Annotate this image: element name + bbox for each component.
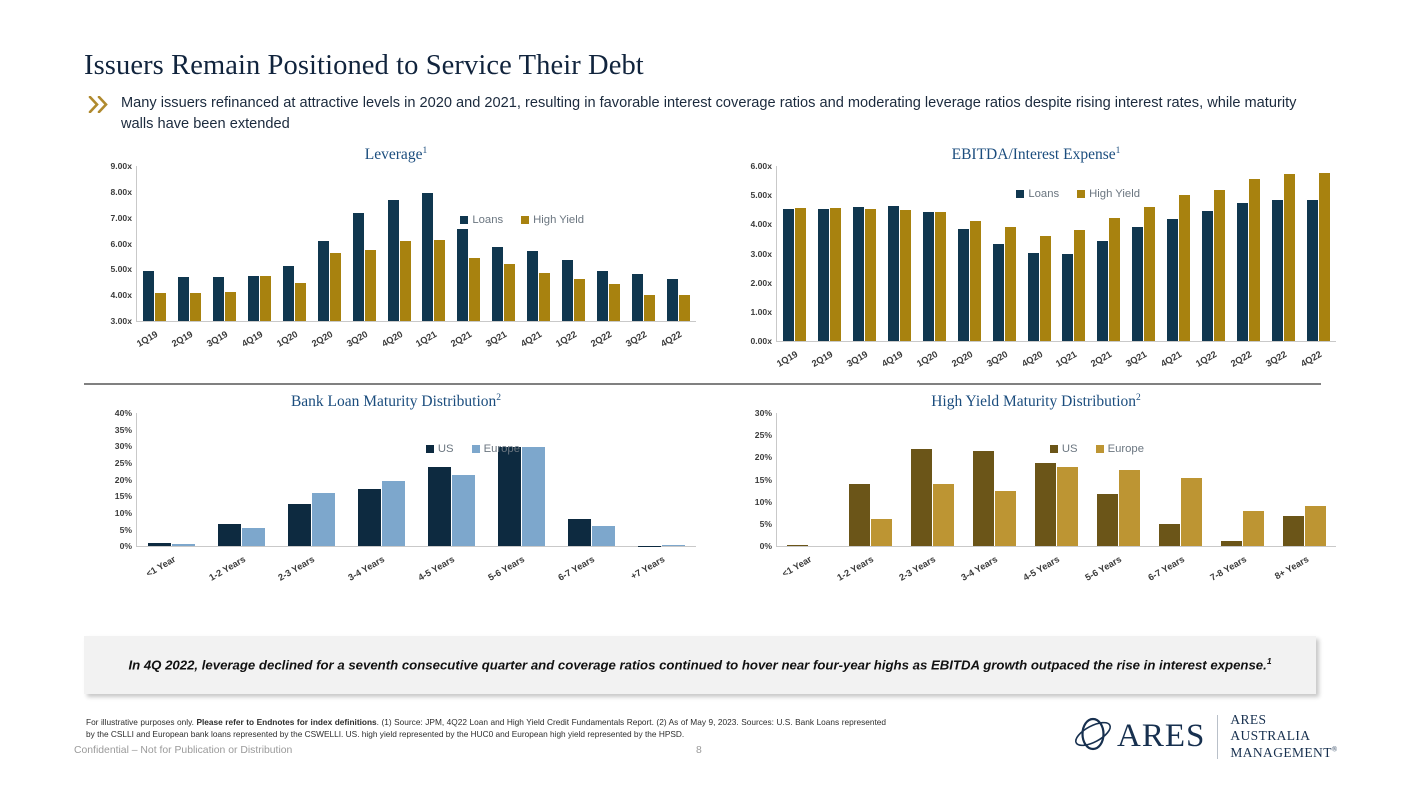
x-axis-tick-label: 3-4 Years [960,554,1000,583]
legend-ebitda-interest-expense: LoansHigh Yield [1016,188,1140,200]
chart-title-superscript: 1 [422,146,427,156]
y-axis-tick-label: 15% [115,491,132,501]
y-axis-tick-label: 3.00x [110,316,132,326]
bar-group [1097,413,1140,546]
y-axis-tick-label: 8.00x [110,187,132,197]
y-axis-tick-label: 40% [115,408,132,418]
bar-group [213,166,236,321]
bar-loans [783,209,794,341]
bar-europe [312,493,335,546]
bar-group [1237,166,1260,341]
x-axis-tick-label: 3Q22 [1264,349,1288,369]
x-axis-tick-label: 5-6 Years [1084,554,1124,583]
x-axis-tick-label: 4Q19 [240,329,264,349]
y-axis: 30%25%20%15%10%5%0% [736,413,776,546]
bar-group [632,166,655,321]
y-axis-tick-label: 25% [755,430,772,440]
x-axis-tick-label: 4Q22 [659,329,683,349]
legend-swatch-icon [1050,445,1058,453]
bar-high-yield [644,295,655,321]
chart-high-yield-maturity: High Yield Maturity Distribution230%25%2… [736,393,1336,598]
x-axis-line [776,341,1336,342]
bar-loans [1097,241,1108,341]
bar-loans [888,206,899,342]
bar-group [318,166,341,321]
chart-ebitda-interest-expense: EBITDA/Interest Expense16.00x5.00x4.00x3… [736,146,1336,393]
x-axis-tick-label: 2-3 Years [897,554,937,583]
bar-high-yield [795,208,806,341]
bar-high-yield [830,208,841,341]
legend-item[interactable]: Loans [1016,188,1059,200]
bar-europe [1057,467,1078,546]
bar-group [562,166,585,321]
bar-us [148,543,171,546]
bar-group [993,166,1016,341]
bar-loans [597,271,608,321]
x-axis-tick-label: 1Q21 [414,329,438,349]
legend-item[interactable]: High Yield [1077,188,1140,200]
legend-swatch-icon [1016,190,1024,198]
ares-wordmark: ARES [1117,718,1205,755]
y-axis-tick-label: 6.00x [750,161,772,171]
bar-group [498,413,545,546]
bar-loans [1132,227,1143,342]
bar-us [1283,516,1304,546]
plot-area-bank-loan-maturity-distribution: 40%35%30%25%20%15%10%5%0%<1 Year1-2 Year… [96,413,696,598]
bar-europe [382,481,405,546]
bar-us [911,449,932,547]
bar-group [248,166,271,321]
x-axis-tick-label: 6-7 Years [1146,554,1186,583]
bar-high-yield [865,209,876,341]
chart-title-superscript: 2 [1136,393,1141,403]
bar-high-yield [970,221,981,341]
bar-high-yield [539,273,550,321]
y-axis-tick-label: 35% [115,425,132,435]
bar-high-yield [1179,195,1190,341]
x-axis-tick-label: 1Q20 [275,329,299,349]
slide: Issuers Remain Positioned to Service The… [0,0,1405,788]
bar-group [1167,166,1190,341]
bar-group [1159,413,1202,546]
x-axis-tick-label: 1Q19 [775,349,799,369]
x-axis-tick-label: 3Q20 [345,329,369,349]
bar-europe [522,447,545,546]
y-axis: 9.00x8.00x7.00x6.00x5.00x4.00x3.00x [96,166,136,321]
bar-europe [662,545,685,546]
y-axis-tick-label: 10% [115,508,132,518]
x-axis-tick-label: 4Q22 [1299,349,1323,369]
bar-group [1202,166,1225,341]
bar-loans [667,279,678,321]
bar-us [638,546,661,547]
x-axis-tick-label: 1-2 Years [207,554,247,583]
legend-bank-loan-maturity-distribution: USEurope [426,443,520,455]
y-axis-tick-label: 20% [115,475,132,485]
x-axis-tick-label: 4Q20 [380,329,404,349]
x-axis-tick-label: 3-4 Years [347,554,387,583]
x-axis-tick-label: 4Q21 [1159,349,1183,369]
y-axis: 40%35%30%25%20%15%10%5%0% [96,413,136,546]
y-axis-tick-label: 5.00x [750,190,772,200]
footnote: For illustrative purposes only. Please r… [86,716,886,740]
y-axis: 6.00x5.00x4.00x3.00x2.00x1.00x0.00x [736,166,776,341]
legend-item[interactable]: High Yield [521,214,584,226]
bar-group-container [137,413,696,546]
bar-us [1159,524,1180,547]
bar-high-yield [609,284,620,321]
chart-title-bank-loan-maturity-distribution: Bank Loan Maturity Distribution2 [96,393,696,411]
bar-europe [1305,506,1326,546]
bar-group [358,413,405,546]
y-axis-tick-label: 5% [760,519,772,529]
logo-divider [1217,715,1218,759]
bar-high-yield [295,283,306,321]
legend-item[interactable]: Loans [460,214,503,226]
x-axis-tick-label: 2Q22 [1229,349,1253,369]
chart-title-text: Bank Loan Maturity Distribution [291,393,496,410]
legend-swatch-icon [521,216,529,224]
bar-loans [1307,200,1318,341]
legend-swatch-icon [460,216,468,224]
x-axis-tick-label: 4Q20 [1020,349,1044,369]
bar-group [787,413,830,546]
bar-group [178,166,201,321]
legend-label: High Yield [533,214,584,226]
bar-europe [871,519,892,546]
confidentiality-notice: Confidential – Not for Publication or Di… [74,745,292,756]
bar-high-yield [1144,207,1155,341]
bar-group [457,166,480,321]
bar-europe [995,491,1016,546]
x-axis-tick-label: 5-6 Years [486,554,526,583]
bar-group [888,166,911,341]
bar-loans [1028,253,1039,341]
bar-loans [562,260,573,321]
y-axis-tick-label: 4.00x [110,290,132,300]
bar-europe [172,544,195,546]
bar-loans [923,212,934,341]
chart-title-ebitda-interest-expense: EBITDA/Interest Expense1 [736,146,1336,164]
x-axis-tick-label: 4-5 Years [417,554,457,583]
legend-label: Europe [1108,443,1144,455]
bar-us [787,545,808,546]
legend-label: Loans [1028,188,1059,200]
bar-group [853,166,876,341]
bar-europe [1181,478,1202,546]
bar-high-yield [935,212,946,341]
x-axis-tick-label: 3Q22 [624,329,648,349]
x-axis-tick-label: 2Q20 [950,349,974,369]
bar-group [353,166,376,321]
bar-group [422,166,445,321]
bar-loans [353,213,364,321]
bar-loans [1272,200,1283,341]
legend-item[interactable]: US [1050,443,1078,455]
x-axis-tick-label: 4Q21 [519,329,543,349]
bar-europe [242,528,265,546]
y-axis-tick-label: 1.00x [750,307,772,317]
logo-sub-line-2: AUSTRALIA [1230,728,1337,744]
bar-high-yield [260,276,271,321]
bar-loans [853,207,864,341]
bar-group [492,166,515,321]
bar-group [388,166,411,321]
bar-group [148,413,195,546]
plot-area-leverage: 9.00x8.00x7.00x6.00x5.00x4.00x3.00x1Q192… [96,166,696,373]
bar-high-yield [190,293,201,321]
y-axis-tick-label: 0% [760,541,772,551]
ares-australia-management-logo: ARES ARES AUSTRALIA MANAGEMENT® [1072,712,1338,761]
y-axis-tick-label: 5% [120,525,132,535]
legend-label: US [438,443,454,455]
chart-title-text: High Yield Maturity Distribution [931,393,1136,410]
bar-high-yield [225,292,236,321]
bar-loans [248,276,259,321]
bar-group [1221,413,1264,546]
bar-high-yield [469,258,480,321]
footnote-pre: For illustrative purposes only. [86,717,196,727]
bar-loans [492,247,503,321]
bar-loans [318,241,329,321]
bar-group [958,166,981,341]
y-axis-tick-label: 9.00x [110,161,132,171]
legend-item[interactable]: US [426,443,454,455]
chart-title-superscript: 2 [496,393,501,403]
bar-high-yield [900,210,911,341]
x-axis-tick-label: 3Q21 [1124,349,1148,369]
bar-loans [1237,203,1248,342]
logo-sub-line-3: MANAGEMENT® [1230,745,1337,761]
bar-us [973,451,994,546]
x-axis-tick-label: 2Q22 [589,329,613,349]
callout-box: In 4Q 2022, leverage declined for a seve… [84,636,1316,694]
x-axis-tick-label: 1Q22 [554,329,578,349]
ares-mark-icon [1072,714,1114,759]
x-axis-tick-label: 3Q20 [985,349,1009,369]
legend-leverage: LoansHigh Yield [460,214,584,226]
bar-group [638,413,685,546]
bar-group [667,166,690,321]
bar-loans [993,244,1004,341]
page-title: Issuers Remain Positioned to Service The… [84,50,644,82]
y-axis-tick-label: 6.00x [110,239,132,249]
page-number: 8 [696,745,702,756]
x-axis-tick-label: 1Q19 [135,329,159,349]
bar-high-yield [330,253,341,321]
chart-bank-loan-maturity: Bank Loan Maturity Distribution240%35%30… [96,393,696,598]
chart-title-superscript: 1 [1116,146,1121,156]
chart-title-leverage: Leverage1 [96,146,696,164]
ares-australia-management-wordmark: ARES AUSTRALIA MANAGEMENT® [1230,712,1337,761]
bar-europe [933,484,954,546]
x-axis-tick-label: 2Q20 [310,329,334,349]
x-axis-tick-label: 4Q19 [880,349,904,369]
callout-text: In 4Q 2022, leverage declined for a seve… [128,655,1271,676]
bar-high-yield [1214,190,1225,342]
bar-us [288,504,311,546]
bar-us [358,489,381,546]
bar-loans [422,193,433,321]
bar-us [849,484,870,546]
bar-high-yield [1249,179,1260,341]
x-axis-tick-label: 8+ Years [1273,554,1310,581]
legend-swatch-icon [472,445,480,453]
bar-group [973,413,1016,546]
bar-group [597,166,620,321]
bar-high-yield [434,240,445,322]
bar-high-yield [1074,230,1085,341]
x-axis-tick-label: 2Q21 [1089,349,1113,369]
y-axis-tick-label: 15% [755,475,772,485]
ares-logo: ARES [1072,714,1205,759]
chart-leverage: Leverage19.00x8.00x7.00x6.00x5.00x4.00x3… [96,146,696,373]
y-axis-tick-label: 4.00x [750,219,772,229]
chart-title-text: EBITDA/Interest Expense [952,146,1116,163]
legend-item[interactable]: Europe [1096,443,1144,455]
legend-swatch-icon [1077,190,1085,198]
bar-group [783,166,806,341]
bar-europe [592,526,615,547]
y-axis-tick-label: 3.00x [750,249,772,259]
x-axis-tick-label: 3Q21 [484,329,508,349]
bar-high-yield [1005,227,1016,342]
bar-group [218,413,265,546]
x-axis-line [136,546,696,547]
bar-high-yield [1284,174,1295,341]
legend-swatch-icon [426,445,434,453]
y-axis-tick-label: 0.00x [750,336,772,346]
x-axis-line [136,321,696,322]
bar-loans [818,209,829,341]
y-axis-tick-label: 30% [115,441,132,451]
bar-loans [1202,211,1213,341]
bar-loans [632,274,643,321]
bar-group [568,413,615,546]
legend-item[interactable]: Europe [472,443,520,455]
bar-group-container [137,166,696,321]
bar-group [1272,166,1295,341]
bullet-row: Many issuers refinanced at attractive le… [88,93,1328,134]
chart-title-high-yield-maturity-distribution: High Yield Maturity Distribution2 [736,393,1336,411]
bar-loans [143,271,154,322]
bar-us [1097,494,1118,546]
bar-loans [1062,254,1073,341]
logo-sub-line-1: ARES [1230,712,1337,728]
bar-high-yield [400,241,411,321]
bar-loans [178,277,189,321]
bar-loans [283,266,294,321]
bar-us [1221,541,1242,546]
bullet-text: Many issuers refinanced at attractive le… [121,93,1328,134]
bar-high-yield [1109,218,1120,341]
bar-loans [958,229,969,341]
plot-area-ebitda-interest-expense: 6.00x5.00x4.00x3.00x2.00x1.00x0.00x1Q192… [736,166,1336,393]
x-axis-tick-label: <1 Year [780,554,813,579]
bar-us [1035,463,1056,546]
y-axis-tick-label: 20% [755,452,772,462]
x-axis-tick-label: 3Q19 [845,349,869,369]
x-axis-tick-label: 2Q21 [449,329,473,349]
y-axis-tick-label: 7.00x [110,213,132,223]
bar-group [283,166,306,321]
bar-us [428,467,451,546]
y-axis-tick-label: 10% [755,497,772,507]
x-axis-tick-label: 4-5 Years [1022,554,1062,583]
bar-europe [1119,470,1140,546]
bar-high-yield [679,295,690,321]
bar-group [911,413,954,546]
bar-group [1035,413,1078,546]
bar-group [527,166,550,321]
bar-group [849,413,892,546]
y-axis-tick-label: 0% [120,541,132,551]
bar-us [568,519,591,546]
bar-high-yield [1319,173,1330,341]
chart-title-text: Leverage [365,146,423,163]
legend-label: Loans [472,214,503,226]
bar-loans [388,200,399,321]
x-axis-tick-label: <1 Year [144,554,177,579]
x-axis-tick-label: 1Q20 [915,349,939,369]
x-axis-tick-label: 1Q21 [1054,349,1078,369]
bar-high-yield [574,279,585,321]
legend-high-yield-maturity-distribution: USEurope [1050,443,1144,455]
x-axis-tick-label: +7 Years [629,554,666,581]
x-axis-tick-label: 1-2 Years [835,554,875,583]
legend-label: US [1062,443,1078,455]
legend-label: High Yield [1089,188,1140,200]
bar-loans [527,251,538,321]
bar-europe [1243,511,1264,546]
x-axis-tick-label: 6-7 Years [556,554,596,583]
x-axis-tick-label: 7-8 Years [1208,554,1248,583]
x-axis-line [776,546,1336,547]
bar-us [498,447,521,546]
double-chevron-right-icon [88,96,110,116]
bar-us [218,524,241,546]
bar-group [1307,166,1330,341]
plot-area-high-yield-maturity-distribution: 30%25%20%15%10%5%0%<1 Year1-2 Years2-3 Y… [736,413,1336,598]
bar-group [288,413,335,546]
bar-group-container [777,413,1336,546]
x-axis-tick-label: 1Q22 [1194,349,1218,369]
section-divider [84,383,1321,385]
footnote-bold: Please refer to Endnotes for index defin… [196,717,376,727]
bar-group [428,413,475,546]
bar-loans [1167,219,1178,341]
legend-swatch-icon [1096,445,1104,453]
y-axis-tick-label: 2.00x [750,278,772,288]
y-axis-tick-label: 30% [755,408,772,418]
bar-high-yield [1040,236,1051,341]
bar-loans [457,229,468,321]
bar-group [818,166,841,341]
legend-label: Europe [484,443,520,455]
bar-group [1283,413,1326,546]
x-axis-tick-label: 3Q19 [205,329,229,349]
bar-high-yield [365,250,376,321]
bar-group [923,166,946,341]
bar-europe [452,475,475,546]
bar-group [143,166,166,321]
y-axis-tick-label: 25% [115,458,132,468]
y-axis-tick-label: 5.00x [110,264,132,274]
bar-high-yield [155,293,166,321]
bar-high-yield [504,264,515,321]
x-axis-tick-label: 2-3 Years [277,554,317,583]
x-axis-tick-label: 2Q19 [170,329,194,349]
